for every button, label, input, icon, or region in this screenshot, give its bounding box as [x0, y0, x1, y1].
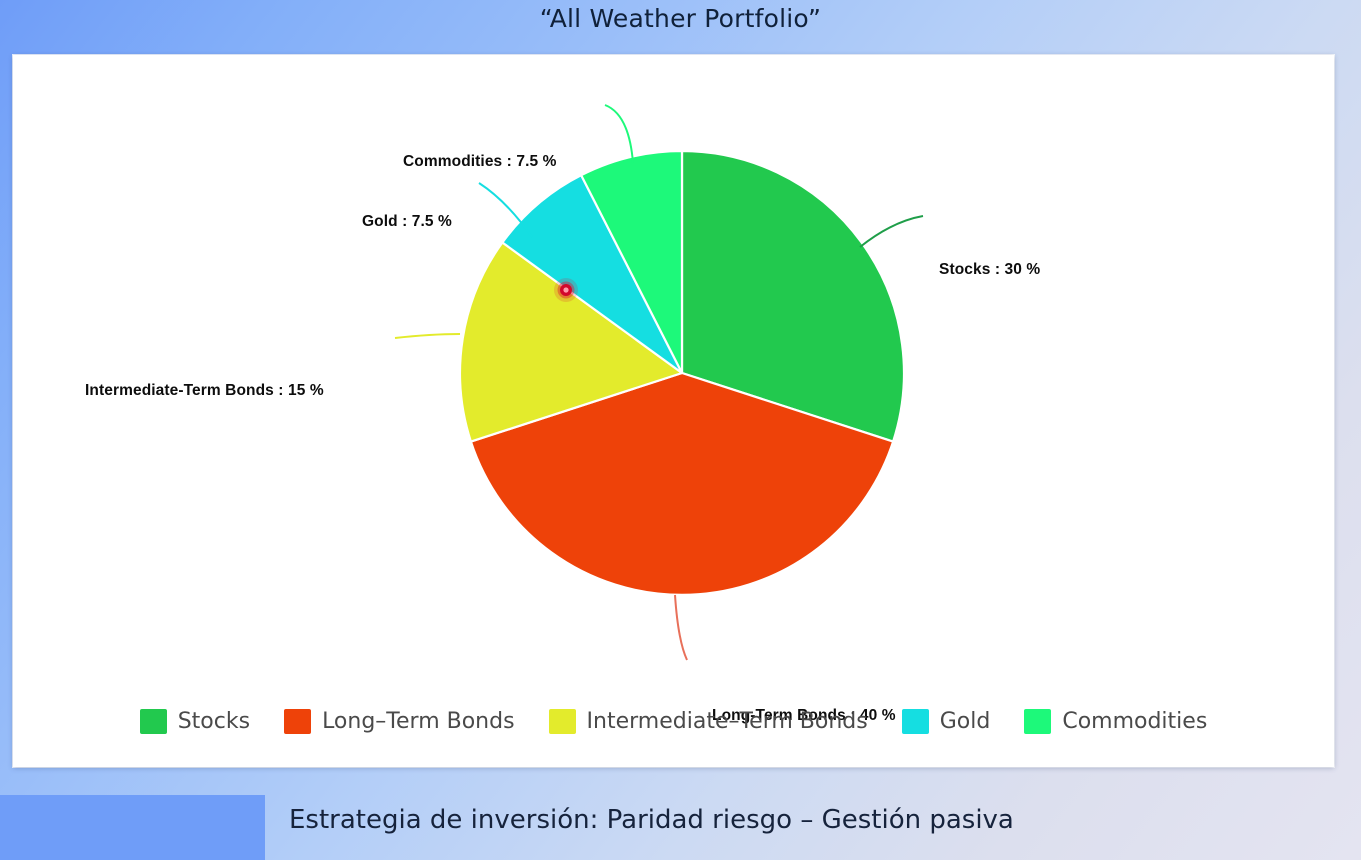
leader-line-intermediate [395, 334, 460, 338]
leader-line-stocks [860, 216, 923, 247]
pie-chart-svg [13, 55, 1334, 767]
legend-swatch-long-term-bonds [284, 709, 311, 734]
legend-item-long-term-bonds[interactable]: Long–Term Bonds [284, 709, 514, 734]
legend-label-gold: Gold [940, 709, 991, 734]
legend-item-gold[interactable]: Gold [902, 709, 991, 734]
slice-label-commodities: Commodities : 7.5 % [403, 153, 557, 171]
legend-label-commodities: Commodities [1062, 709, 1207, 734]
legend-swatch-gold [902, 709, 929, 734]
slice-label-stocks: Stocks : 30 % [939, 261, 1040, 279]
chart-panel: Commodities : 7.5 % Gold : 7.5 % Interme… [13, 55, 1334, 767]
legend-swatch-commodities [1024, 709, 1051, 734]
legend-item-stocks[interactable]: Stocks [140, 709, 250, 734]
leader-line-commodities [605, 105, 633, 163]
page-title: “All Weather Portfolio” [0, 4, 1361, 33]
legend-item-commodities[interactable]: Commodities [1024, 709, 1207, 734]
legend-item-intermediate-term-bonds[interactable]: Intermediate–Term Bonds [549, 709, 868, 734]
legend-label-intermediate-term-bonds: Intermediate–Term Bonds [587, 709, 868, 734]
slice-label-intermediate-term-bonds: Intermediate-Term Bonds : 15 % [85, 382, 324, 400]
slide-caption: Estrategia de inversión: Paridad riesgo … [289, 805, 1014, 835]
accent-block [0, 795, 265, 860]
chart-legend: Stocks Long–Term Bonds Intermediate–Term… [13, 709, 1334, 734]
leader-line-long-term [675, 595, 687, 660]
pie-chart [13, 55, 1334, 767]
legend-swatch-intermediate-term-bonds [549, 709, 576, 734]
slice-label-gold: Gold : 7.5 % [362, 213, 452, 231]
legend-label-stocks: Stocks [178, 709, 250, 734]
legend-label-long-term-bonds: Long–Term Bonds [322, 709, 514, 734]
legend-swatch-stocks [140, 709, 167, 734]
